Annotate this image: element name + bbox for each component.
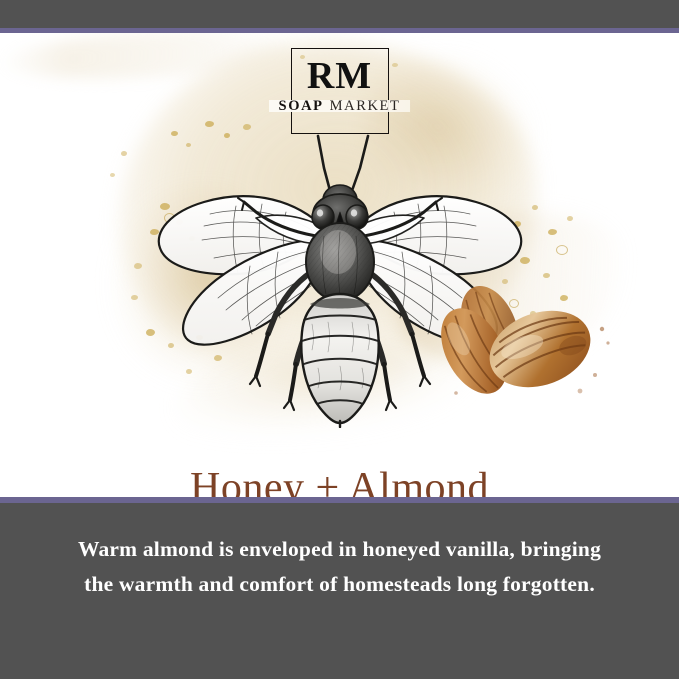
top-gray-band [0, 0, 679, 28]
description-panel: Warm almond is enveloped in honeyed vani… [0, 503, 679, 679]
almonds-illustration [432, 271, 632, 411]
gold-speckle [110, 173, 115, 177]
gold-speckle-ring [556, 245, 568, 255]
artwork-stage: RM SOAP MARKET Honey + Almond [0, 33, 679, 497]
product-title: Honey + Almond [0, 467, 679, 497]
product-description: Warm almond is enveloped in honeyed vani… [75, 532, 605, 602]
gold-speckle [532, 205, 538, 210]
soap-label-card: RM SOAP MARKET Honey + Almond Warm almon… [0, 0, 679, 679]
gold-speckle [121, 151, 127, 156]
